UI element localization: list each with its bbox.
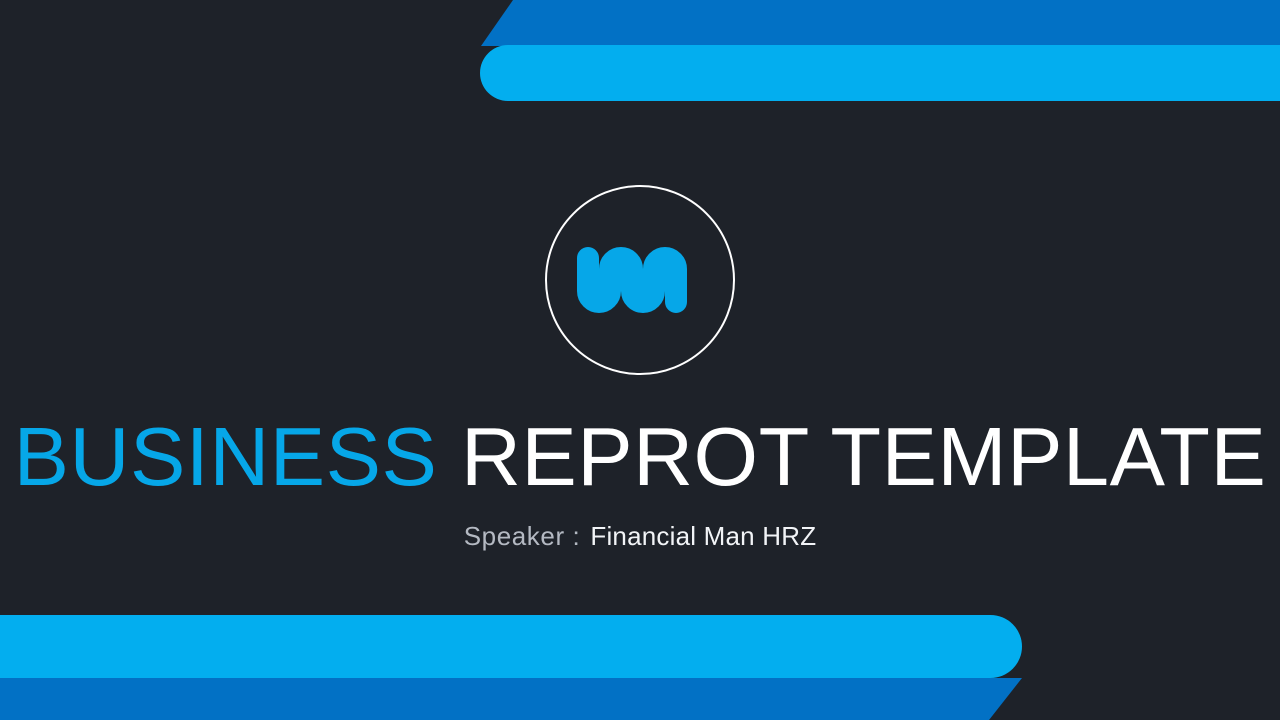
presentation-slide: BUSINESS REPROT TEMPLATE Speaker :Financ… xyxy=(0,0,1280,720)
wave-squiggle-logo-icon xyxy=(577,247,703,313)
top-slanted-blue-band xyxy=(0,0,1280,46)
top-decoration-group xyxy=(0,0,1280,110)
bottom-slanted-blue-band xyxy=(0,678,1280,720)
slide-subtitle: Speaker :Financial Man HRZ xyxy=(0,520,1280,553)
bottom-rounded-cyan-bar xyxy=(0,615,1022,678)
speaker-name: Financial Man HRZ xyxy=(590,521,816,551)
title-space xyxy=(437,410,461,503)
title-accent-word: BUSINESS xyxy=(14,410,438,503)
title-rest: REPROT TEMPLATE xyxy=(461,410,1266,503)
logo xyxy=(545,185,735,375)
top-rounded-cyan-bar xyxy=(480,45,1280,101)
bottom-decoration-group xyxy=(0,610,1280,720)
speaker-label: Speaker : xyxy=(464,521,581,551)
slide-title: BUSINESS REPROT TEMPLATE xyxy=(0,412,1280,502)
